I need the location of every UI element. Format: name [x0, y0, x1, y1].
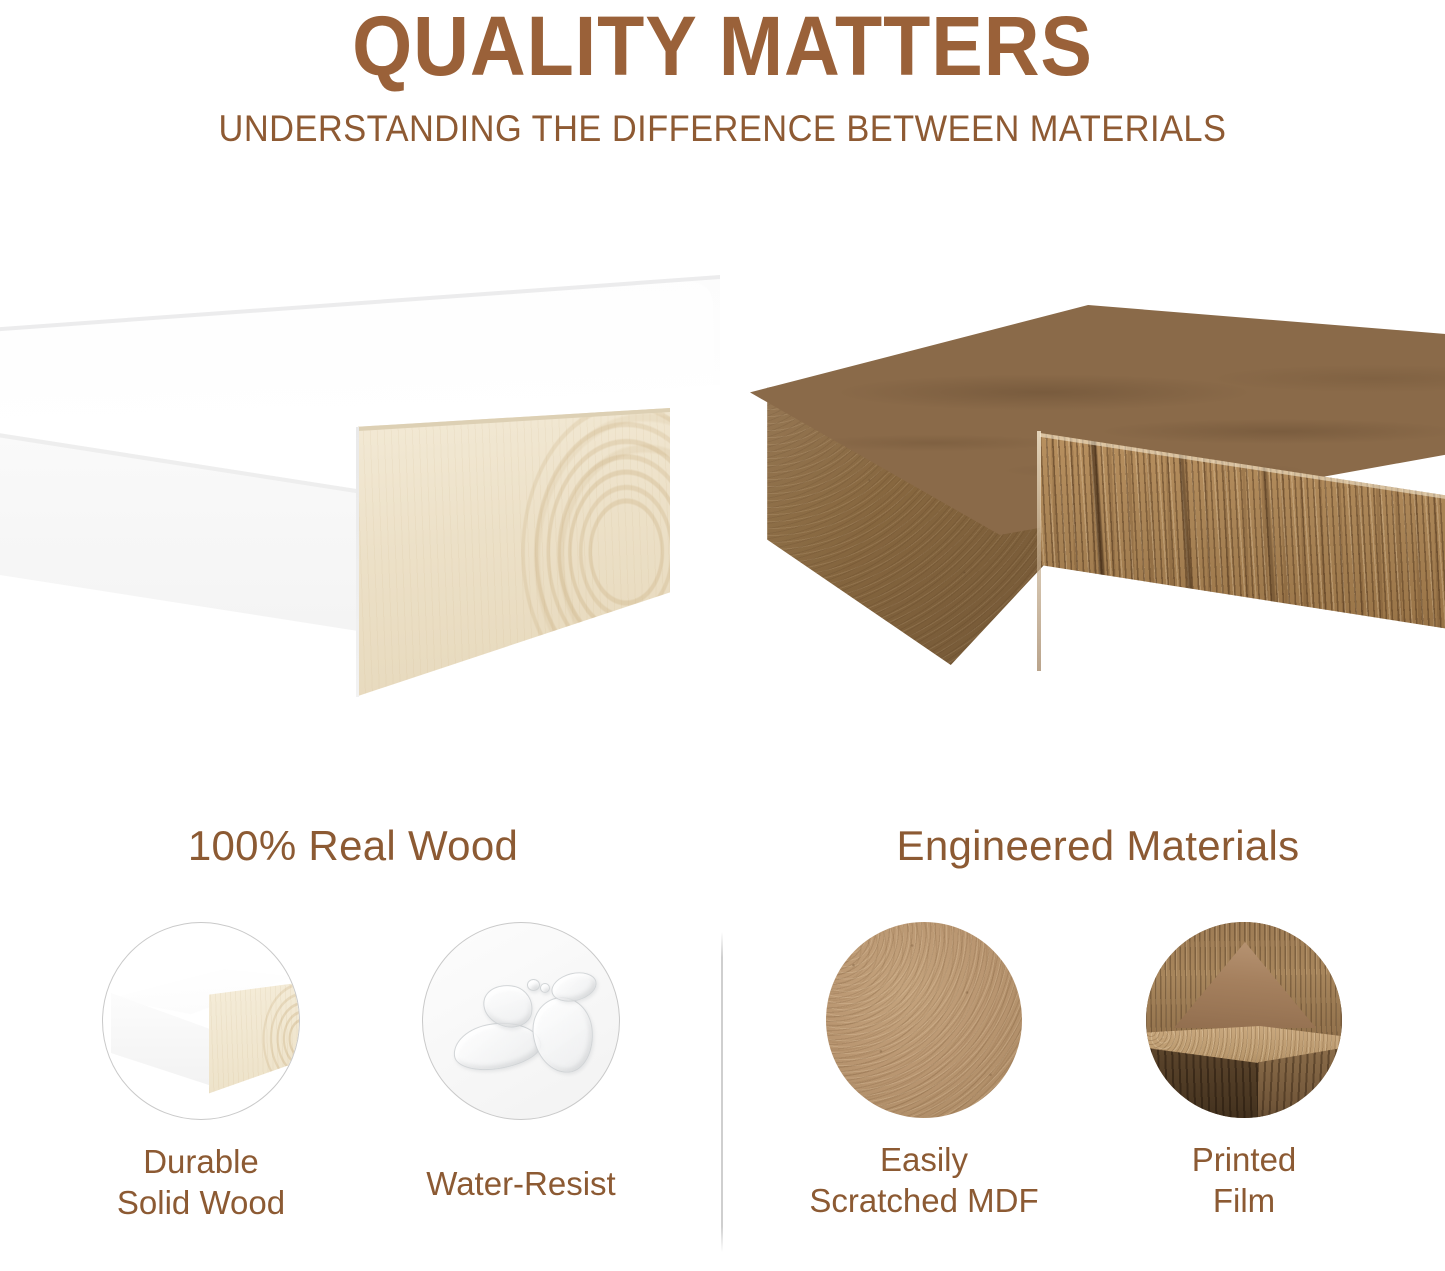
- feature-row-real-wood: Durable Solid Wood Water-Resist: [0, 922, 722, 1224]
- shelf-front-grain-cracks: [1040, 433, 1445, 673]
- column-heading-engineered-materials: Engineered Materials: [737, 822, 1445, 870]
- white-solid-wood-shelf-image: [0, 275, 720, 695]
- feature-caption-easily-scratched-mdf: Easily Scratched MDF: [809, 1140, 1038, 1222]
- water-droplet: [450, 1016, 544, 1075]
- feature-easily-scratched-mdf: Easily Scratched MDF: [805, 922, 1043, 1222]
- column-engineered-materials: Engineered Materials Easily Scratched MD…: [723, 800, 1445, 1271]
- page-subtitle: UNDERSTANDING THE DIFFERENCE BETWEEN MAT…: [51, 88, 1395, 150]
- solid-wood-shelf-icon: [102, 922, 300, 1120]
- rustic-mdf-shelf-image: [740, 305, 1445, 705]
- feature-durable-solid-wood: Durable Solid Wood: [82, 922, 320, 1224]
- feature-caption-printed-film: Printed Film: [1192, 1140, 1297, 1222]
- water-droplet: [529, 994, 597, 1076]
- column-heading-real-wood: 100% Real Wood: [0, 822, 714, 870]
- feature-row-engineered: Easily Scratched MDF Printed Film: [723, 922, 1445, 1222]
- comparison-section: 100% Real Wood Durable Solid Wood: [0, 800, 1445, 1271]
- mini-shelf-end-grain: [209, 979, 300, 1109]
- shelf-wood-corner-edge: [1037, 431, 1041, 671]
- feature-caption-durable-solid-wood: Durable Solid Wood: [117, 1142, 285, 1224]
- feature-printed-film: Printed Film: [1125, 922, 1363, 1222]
- feature-caption-water-resist: Water-Resist: [426, 1164, 615, 1205]
- shelf-end-grain-wood: [358, 408, 670, 696]
- water-droplets-icon: [422, 922, 620, 1120]
- page-title: QUALITY MATTERS: [58, 0, 1387, 88]
- shelf-corner-edge: [356, 427, 359, 697]
- mdf-particle-icon: [826, 922, 1022, 1118]
- water-droplet: [527, 979, 540, 991]
- peeling-printed-film-icon: [1146, 922, 1342, 1118]
- header: QUALITY MATTERS UNDERSTANDING THE DIFFER…: [0, 0, 1445, 150]
- feature-water-resist: Water-Resist: [402, 922, 640, 1224]
- water-droplet: [540, 983, 550, 993]
- hero-product-comparison: [0, 250, 1445, 720]
- column-real-wood: 100% Real Wood Durable Solid Wood: [0, 800, 722, 1271]
